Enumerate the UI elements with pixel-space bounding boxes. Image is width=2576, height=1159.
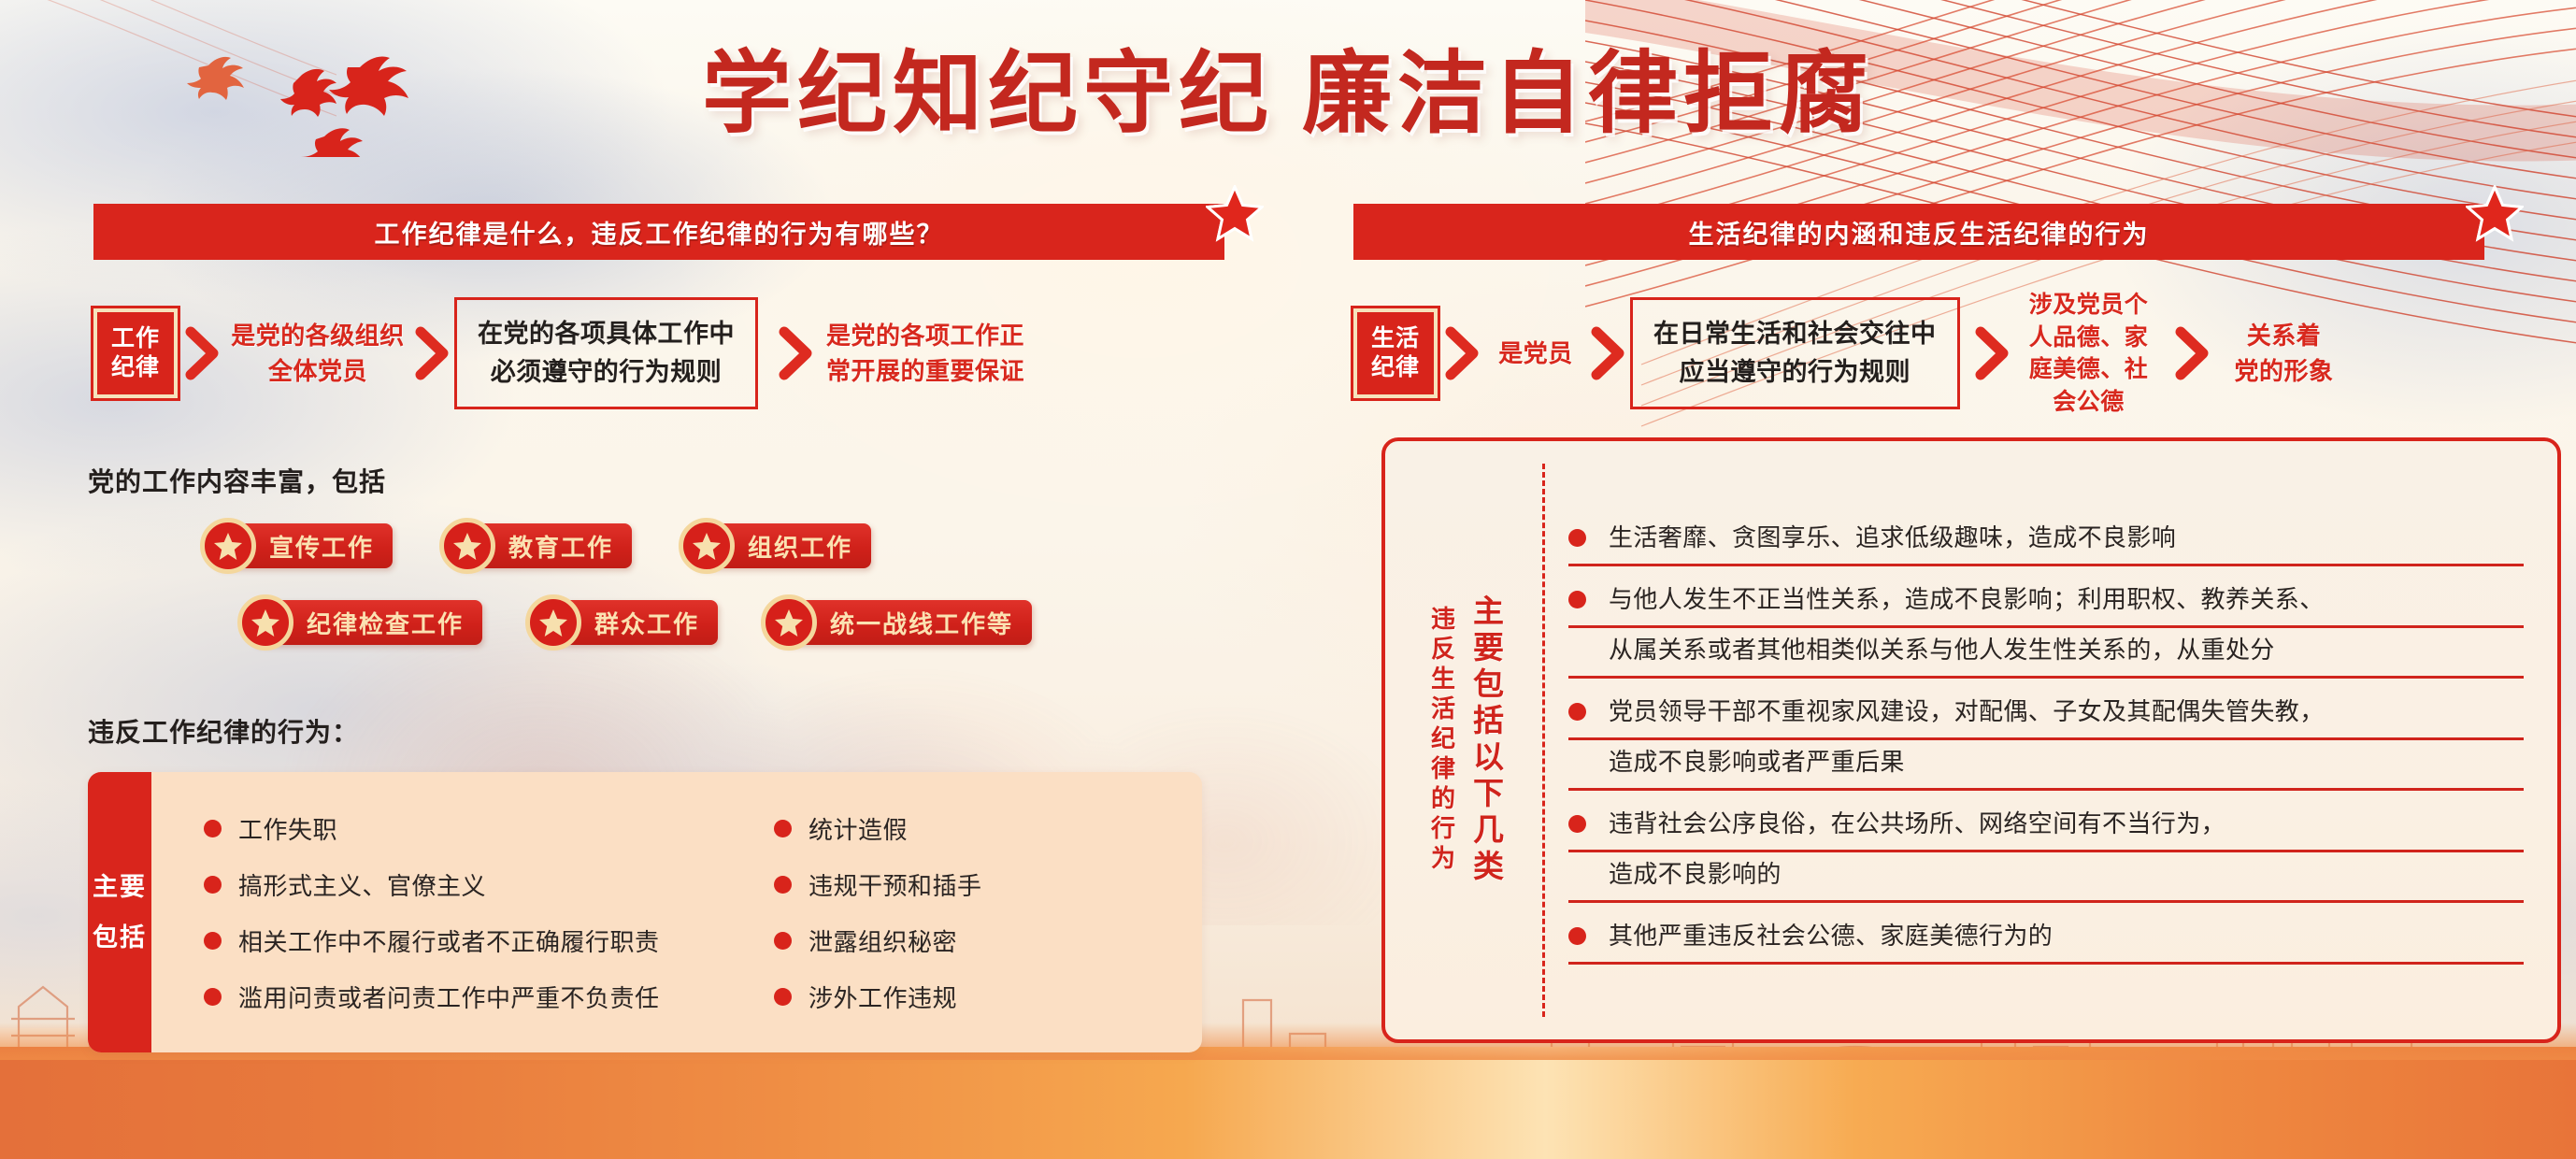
list-item-label: 违规干预和插手 — [809, 867, 982, 902]
star-icon — [2466, 185, 2524, 243]
star-icon — [237, 594, 293, 651]
left-flow-row: 工作 纪律 是党的各级组织 全体党员 在党的各项具体工作中 必须遵守的行为规则 — [93, 297, 1262, 409]
right-flow-step-3-line2: 人品德、家 — [2014, 322, 2164, 354]
right-flow-step-1: 是党员 — [1484, 336, 1587, 371]
list-item: 搞形式主义、官僚主义 — [204, 856, 750, 912]
left-flow-step-3: 是党的各项工作正 常开展的重要保证 — [818, 318, 1033, 390]
pill-label: 组织工作 — [748, 529, 852, 564]
bullet-column-2: 统计造假 违规干预和插手 泄露组织秘密 涉外工作违规 — [750, 800, 1198, 1024]
left-flow-step-2-line1: 在党的各项具体工作中 — [478, 315, 735, 353]
list-item-label: 泄露组织秘密 — [809, 923, 957, 958]
right-flow-step-4-line2: 党的形象 — [2214, 353, 2354, 389]
list-item-label: 其他严重违反社会公德、家庭美德行为的 — [1609, 918, 2053, 954]
list-item-line: 造成不良影响或者严重后果 — [1568, 740, 2524, 791]
list-item: 违背社会公序良俗，在公共场所、网络空间有不当行为， 造成不良影响的 — [1568, 796, 2524, 909]
list-item: 涉外工作违规 — [774, 968, 1198, 1024]
list-item-label: 统计造假 — [809, 811, 908, 846]
list-item-label: 造成不良影响的 — [1609, 856, 1782, 893]
left-flow-step-3-line2: 常开展的重要保证 — [818, 353, 1033, 389]
vertical-label-outer: 违反生活纪律的行为 — [1425, 606, 1460, 875]
list-item-label: 造成不良影响或者严重后果 — [1609, 744, 1905, 780]
left-list-heading: 违反工作纪律的行为： — [88, 712, 359, 750]
bullet-dot-icon — [1568, 815, 1586, 833]
violations-card: 主要 包括 工作失职 搞形式主义、官僚主义 相关工作中不履行或者不正确履行职责 — [88, 772, 1202, 1052]
left-flow-badge-line1: 工作 — [111, 324, 160, 354]
left-panel: 工作纪律是什么，违反工作纪律的行为有哪些？ 工作 纪律 是党的各级组织 全体党员 — [56, 0, 1299, 1159]
right-flow-step-4-line1: 关系着 — [2214, 318, 2354, 353]
list-item: 生活奢靡、贪图享乐、追求低级趣味，造成不良影响 — [1568, 510, 2524, 572]
list-item-label: 违背社会公序良俗，在公共场所、网络空间有不当行为， — [1609, 806, 2225, 842]
bullet-dot-spacer — [1568, 753, 1586, 771]
chevron-right-icon — [1971, 326, 2014, 380]
right-flow-step-2-line2: 应当遵守的行为规则 — [1653, 353, 1937, 392]
chevron-right-icon — [1441, 326, 1484, 380]
bullet-dot-icon — [204, 876, 222, 894]
life-discipline-box: 违反生活纪律的行为 主要包括以下几类 生活奢靡、贪图享乐、追求低级趣味，造成不良… — [1381, 437, 2561, 1043]
right-flow-step-3-line4: 会公德 — [2014, 386, 2164, 419]
bullet-dot-spacer — [1568, 866, 1586, 883]
chevron-right-icon — [775, 326, 818, 380]
right-flow-step-3-line1: 涉及党员个 — [2014, 289, 2164, 322]
bullet-dot-icon — [1568, 529, 1586, 547]
bullet-dot-icon — [774, 932, 792, 950]
card-tab-line2: 包括 — [93, 912, 147, 963]
right-flow-badge-line2: 纪律 — [1371, 353, 1420, 383]
list-item-label: 工作失职 — [238, 811, 337, 846]
card-body: 工作失职 搞形式主义、官僚主义 相关工作中不履行或者不正确履行职责 滥用问责或者… — [151, 772, 1202, 1052]
bullet-dot-icon — [1568, 927, 1586, 945]
right-flow-badge: 生活 纪律 — [1353, 308, 1438, 398]
left-flow-step-3-line1: 是党的各项工作正 — [818, 318, 1033, 353]
right-section-banner: 生活纪律的内涵和违反生活纪律的行为 — [1353, 204, 2484, 260]
left-sub-heading: 党的工作内容丰富，包括 — [88, 462, 1331, 499]
pill-badge[interactable]: 纪律检查工作 — [252, 600, 482, 645]
left-banner-label: 工作纪律是什么，违反工作纪律的行为有哪些？ — [375, 214, 944, 250]
right-flow-step-1-line1: 是党员 — [1484, 336, 1587, 371]
list-item: 统计造假 — [774, 800, 1198, 856]
list-item-label: 涉外工作违规 — [809, 980, 957, 1014]
right-banner-label: 生活纪律的内涵和违反生活纪律的行为 — [1689, 214, 2150, 250]
list-item-line: 其他严重违反社会公德、家庭美德行为的 — [1568, 914, 2524, 965]
bullet-dot-icon — [774, 876, 792, 894]
right-flow-badge-line1: 生活 — [1371, 324, 1420, 354]
pill-label: 宣传工作 — [269, 529, 374, 564]
left-flow-step-2-line2: 必须遵守的行为规则 — [478, 353, 735, 392]
chevron-right-icon — [411, 326, 454, 380]
chevron-right-icon — [2171, 326, 2214, 380]
bullet-dot-icon — [774, 820, 792, 837]
list-item-label: 搞形式主义、官僚主义 — [238, 867, 486, 902]
pill-badge[interactable]: 群众工作 — [540, 600, 718, 645]
bullet-dot-icon — [204, 820, 222, 837]
work-category-pills: 宣传工作 教育工作 组织工作 — [88, 523, 1331, 645]
pill-badge[interactable]: 宣传工作 — [215, 523, 393, 568]
list-item-line: 与他人发生不正当性关系，造成不良影响；利用职权、教养关系、 — [1568, 578, 2524, 628]
bullet-dot-spacer — [1568, 641, 1586, 659]
right-panel: 生活纪律的内涵和违反生活纪律的行为 生活 纪律 是党员 在日常生活和 — [1353, 0, 2576, 1159]
left-flow-step-2: 在党的各项具体工作中 必须遵守的行为规则 — [454, 297, 758, 409]
pill-row-1: 宣传工作 教育工作 组织工作 — [215, 523, 1331, 568]
right-flow-step-4: 关系着 党的形象 — [2214, 318, 2354, 390]
right-flow-step-2-line1: 在日常生活和社会交往中 — [1653, 315, 1937, 353]
pill-badge[interactable]: 组织工作 — [694, 523, 871, 568]
star-icon — [679, 518, 735, 574]
card-tab-line1: 主要 — [93, 862, 147, 912]
list-item: 其他严重违反社会公德、家庭美德行为的 — [1568, 909, 2524, 970]
card-side-tab: 主要 包括 — [88, 772, 151, 1052]
list-item: 违规干预和插手 — [774, 856, 1198, 912]
chevron-right-icon — [1587, 326, 1630, 380]
bullet-dot-icon — [774, 988, 792, 1006]
right-flow-step-3: 涉及党员个 人品德、家 庭美德、社 会公德 — [2014, 289, 2164, 418]
left-section-banner: 工作纪律是什么，违反工作纪律的行为有哪些？ — [93, 204, 1224, 260]
pill-badge[interactable]: 教育工作 — [454, 523, 632, 568]
list-item-label: 与他人发生不正当性关系，造成不良影响；利用职权、教养关系、 — [1609, 581, 2325, 618]
pill-label: 群众工作 — [594, 606, 699, 640]
left-flow-step-1-line2: 全体党员 — [224, 353, 411, 389]
list-item: 相关工作中不履行或者不正确履行职责 — [204, 912, 750, 968]
left-flow-step-1: 是党的各级组织 全体党员 — [224, 318, 411, 390]
bullet-dot-icon — [1568, 703, 1586, 721]
list-item-label: 相关工作中不履行或者不正确履行职责 — [238, 923, 660, 958]
star-icon — [200, 518, 256, 574]
list-item: 泄露组织秘密 — [774, 912, 1198, 968]
list-item-line: 造成不良影响的 — [1568, 852, 2524, 903]
list-item: 工作失职 — [204, 800, 750, 856]
pill-label: 教育工作 — [508, 529, 613, 564]
list-item-line: 生活奢靡、贪图享乐、追求低级趣味，造成不良影响 — [1568, 516, 2524, 566]
list-item-line: 党员领导干部不重视家风建设，对配偶、子女及其配偶失管失教， — [1568, 690, 2524, 740]
bullet-column-1: 工作失职 搞形式主义、官僚主义 相关工作中不履行或者不正确履行职责 滥用问责或者… — [151, 800, 750, 1024]
vertical-label-inner: 主要包括以下几类 — [1464, 594, 1509, 886]
life-violations-list: 生活奢靡、贪图享乐、追求低级趣味，造成不良影响 与他人发生不正当性关系，造成不良… — [1568, 458, 2524, 1023]
chevron-right-icon — [181, 326, 224, 380]
bullet-dot-icon — [204, 988, 222, 1006]
list-item-label: 生活奢靡、贪图享乐、追求低级趣味，造成不良影响 — [1609, 520, 2176, 556]
list-item: 与他人发生不正当性关系，造成不良影响；利用职权、教养关系、 从属关系或者其他相类… — [1568, 572, 2524, 684]
pill-label: 统一战线工作等 — [830, 606, 1013, 640]
star-icon — [439, 518, 495, 574]
list-item-line: 违背社会公序良俗，在公共场所、网络空间有不当行为， — [1568, 802, 2524, 852]
star-icon — [525, 594, 581, 651]
vertical-labels: 违反生活纪律的行为 主要包括以下几类 — [1406, 441, 1527, 1039]
pill-row-2: 纪律检查工作 群众工作 统一战线工作等 — [252, 600, 1331, 645]
bullet-dot-icon — [204, 932, 222, 950]
list-item: 滥用问责或者问责工作中严重不负责任 — [204, 968, 750, 1024]
right-flow-step-2: 在日常生活和社会交往中 应当遵守的行为规则 — [1630, 297, 1960, 409]
left-flow-badge-line2: 纪律 — [111, 353, 160, 383]
pill-badge[interactable]: 统一战线工作等 — [776, 600, 1032, 645]
right-flow-row: 生活 纪律 是党员 在日常生活和社会交往中 应当遵守的行为规则 涉及党员个 — [1353, 297, 2569, 409]
list-item-label: 滥用问责或者问责工作中严重不负责任 — [238, 980, 660, 1014]
poster-stage: 学纪知纪守纪 廉洁自律拒腐 工作纪律是什么，违反工作纪律的行为有哪些？ 工作 纪… — [0, 0, 2576, 1159]
left-flow-badge: 工作 纪律 — [93, 308, 178, 398]
star-icon — [1206, 185, 1264, 243]
list-item-label: 党员领导干部不重视家风建设，对配偶、子女及其配偶失管失教， — [1609, 694, 2325, 730]
dashed-divider — [1542, 464, 1545, 1017]
pill-label: 纪律检查工作 — [307, 606, 464, 640]
list-item-line: 从属关系或者其他相类似关系与他人发生性关系的，从重处分 — [1568, 628, 2524, 679]
left-flow-step-1-line1: 是党的各级组织 — [224, 318, 411, 353]
star-icon — [761, 594, 817, 651]
right-flow-step-3-line3: 庭美德、社 — [2014, 353, 2164, 386]
bullet-dot-icon — [1568, 591, 1586, 608]
list-item: 党员领导干部不重视家风建设，对配偶、子女及其配偶失管失教， 造成不良影响或者严重… — [1568, 684, 2524, 796]
list-item-label: 从属关系或者其他相类似关系与他人发生性关系的，从重处分 — [1609, 632, 2275, 668]
